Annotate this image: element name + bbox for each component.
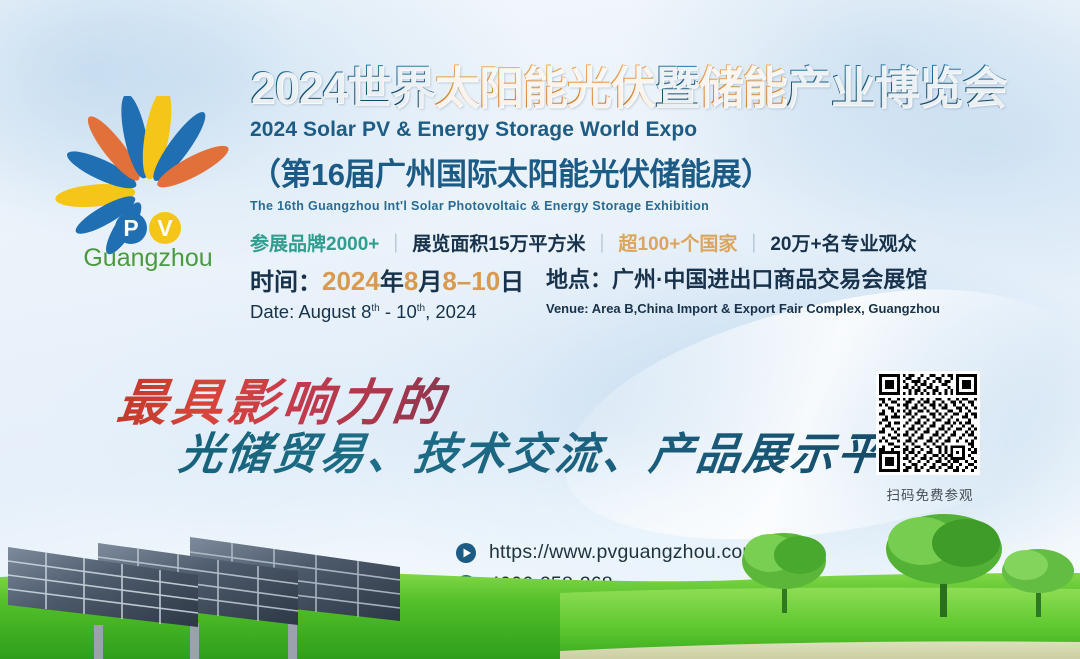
sun-petals-icon: P V Guangzhou [52,96,242,276]
title-segment-5: 产业博览会 [786,62,1006,113]
qr-code-image[interactable] [876,371,980,475]
qr-caption: 扫码免费参观 [876,484,984,504]
date-month: 8 [404,266,418,296]
date-year: 2024 [322,266,380,296]
date-day-unit: 日 [500,269,524,296]
title-segment-4: 储能 [698,62,786,113]
venue-column: 地点：广州·中国进出口商品交易会展馆 Venue: Area B,China I… [546,262,940,316]
date-en-sup1: th [371,303,379,314]
date-days: 8–10 [442,266,500,296]
date-year-unit: 年 [380,269,404,296]
scenery-band [0,509,1080,659]
title-english: 2024 Solar PV & Energy Storage World Exp… [250,118,1050,142]
title-segment-1: 2024世界 [250,62,434,113]
date-en-day2: 10 [396,301,417,322]
subtitle-english: The 16th Guangzhou Int'l Solar Photovolt… [250,199,1050,213]
stat-countries: 超100+个国家 [619,234,738,255]
logo-letter-v: V [157,215,173,241]
date-venue-row: 时间：2024年8月8–10日 Date: August 8th - 10th,… [250,262,1040,323]
logo-wordmark: Guangzhou [83,244,212,272]
date-label: 时间： [250,269,322,296]
date-en-day1: 8 [361,301,371,322]
landscape-illustration [0,509,1080,659]
date-chinese: 时间：2024年8月8–10日 [250,262,540,297]
logo-letter-p: P [123,215,138,241]
expo-poster: P V Guangzhou 2024世界太阳能光伏暨储能产业博览会 2024 S… [0,0,1080,659]
date-column: 时间：2024年8月8–10日 Date: August 8th - 10th,… [250,262,540,323]
stat-visitors: 20万+名专业观众 [770,234,916,255]
qr-code-icon [879,374,977,472]
date-month-unit: 月 [418,269,442,296]
date-english: Date: August 8th - 10th, 2024 [250,301,540,323]
subtitle-chinese: （第16届广州国际太阳能光伏储能展） [250,149,1050,194]
stat-separator: ｜ [593,234,612,255]
pv-guangzhou-logo: P V Guangzhou [52,96,242,276]
date-en-mid: - [380,301,396,322]
qr-code-block: 扫码免费参观 [876,371,984,504]
date-en-prefix: Date: August [250,301,361,322]
stat-brands: 参展品牌2000+ [250,234,379,255]
venue-chinese: 地点：广州·中国进出口商品交易会展馆 [546,262,940,294]
date-en-sup2: th [417,303,425,314]
stat-separator: ｜ [386,234,405,255]
title-segment-2: 太阳能光伏 [434,62,654,113]
stat-area: 展览面积15万平方米 [412,234,585,255]
slogan-line-2: 光储贸易、技术交流、产品展示平台！ [176,418,983,482]
headline-block: 2024世界太阳能光伏暨储能产业博览会 2024 Solar PV & Ener… [250,62,1050,256]
stat-separator: ｜ [744,234,763,255]
title-segment-3: 暨 [654,62,698,113]
venue-label: 地点： [546,267,612,292]
stats-row: 参展品牌2000+｜展览面积15万平方米｜超100+个国家｜20万+名专业观众 [250,229,1050,256]
date-en-suffix: , 2024 [425,301,476,322]
venue-value: 广州·中国进出口商品交易会展馆 [612,267,927,292]
main-title: 2024世界太阳能光伏暨储能产业博览会 [250,62,1050,114]
venue-english: Venue: Area B,China Import & Export Fair… [546,301,940,316]
